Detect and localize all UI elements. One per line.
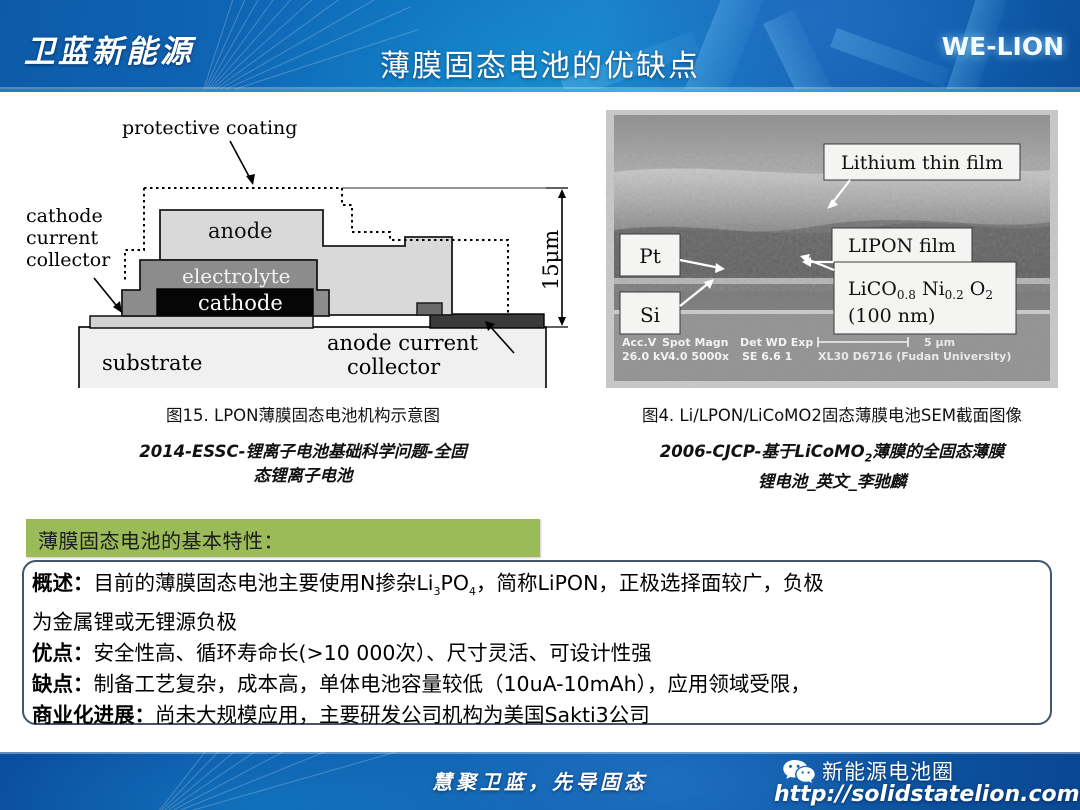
svg-text:(100 nm): (100 nm) <box>848 305 935 327</box>
figure-left-source-line2: 态锂离子电池 <box>254 466 353 485</box>
label-substrate: substrate <box>102 351 202 375</box>
footer-url[interactable]: http://solidstatelion.com <box>774 782 1080 807</box>
svg-text:Acc.V: Acc.V <box>622 336 657 349</box>
figure-right-source-line2: 锂电池_英文_李驰麟 <box>758 472 907 491</box>
section-header-label: 薄膜固态电池的基本特性： <box>38 525 284 554</box>
content-line-0-sep: ： <box>73 571 94 595</box>
label-thickness: 15μm <box>539 230 563 290</box>
figure-right-source-line1a: 2006-CJCP-基于LiCoMO <box>660 442 865 461</box>
content-line-3-label: 缺点 <box>32 672 73 696</box>
figure-left-source-line1: 2014-ESSC-锂离子电池基础科学问题-全固 <box>139 442 467 461</box>
svg-text:LiCO0.8 Ni0.2 O2: LiCO0.8 Ni0.2 O2 <box>848 278 993 302</box>
svg-text:Lithium thin film: Lithium thin film <box>841 152 1003 174</box>
content-line-4: 商业化进展：尚未大规模应用，主要研发公司机构为美国Sakti3公司 <box>32 700 1042 731</box>
content-line-1-text-a: 为金属锂或无锂源负极 <box>32 610 237 634</box>
content-line-4-label: 商业化进展 <box>32 703 135 727</box>
slide-body: 15μm protective coating cathode current … <box>0 92 1080 752</box>
content-line-0: 概述：目前的薄膜固态电池主要使用N掺杂Li3PO4，简称LiPON，正极选择面较… <box>32 568 1042 607</box>
label-cathode: cathode <box>198 291 283 315</box>
page-title: 薄膜固态电池的优缺点 <box>0 41 1080 85</box>
svg-text:Det WD Exp: Det WD Exp <box>740 336 813 349</box>
figure-right-caption-title: 图4. Li/LPON/LiCoMO2固态薄膜电池SEM截面图像 <box>586 404 1078 428</box>
svg-text:4.0 5000x: 4.0 5000x <box>668 350 729 363</box>
figure-right-source-line1b: 薄膜的全固态薄膜 <box>872 442 1004 461</box>
brand-logo-en: WE-LION <box>942 32 1064 61</box>
svg-text:26.0 kV: 26.0 kV <box>622 350 669 363</box>
content-textbox: 概述：目前的薄膜固态电池主要使用N掺杂Li3PO4，简称LiPON，正极选择面较… <box>22 560 1052 725</box>
label-protective-coating: protective coating <box>122 117 297 139</box>
wechat-icon <box>782 758 816 784</box>
svg-text:SE 6.6 1: SE 6.6 1 <box>742 350 792 363</box>
label-cathode-current-collector: cathode <box>26 205 103 227</box>
slide-footer: 慧聚卫蓝，先导固态 新能源电池圈 http://solidstatelion.c… <box>0 752 1080 810</box>
figure-left-caption-title: 图15. LPON薄膜固态电池机构示意图 <box>22 404 584 428</box>
content-line-1: 为金属锂或无锂源负极 <box>32 607 1042 638</box>
content-line-4-sep: ： <box>135 703 156 727</box>
content-line-4-text-a: 尚未大规模应用，主要研发公司机构为美国Sakti3公司 <box>155 703 650 727</box>
svg-text:Spot Magn: Spot Magn <box>662 336 729 349</box>
content-line-0-text-b: PO <box>440 571 469 595</box>
svg-text:Si: Si <box>640 303 660 327</box>
content-line-2-label: 优点 <box>32 641 73 665</box>
content-line-2: 优点：安全性高、循环寿命长(>10 000次）、尺寸灵活、可设计性强 <box>32 638 1042 669</box>
content-line-2-sep: ： <box>73 641 94 665</box>
figure-lipon-schematic: 15μm protective coating cathode current … <box>22 110 584 388</box>
figure-left-caption-source: 2014-ESSC-锂离子电池基础科学问题-全固 态锂离子电池 <box>42 440 564 488</box>
slide-header: 卫蓝新能源 薄膜固态电池的优缺点 WE-LION <box>0 0 1080 92</box>
content-line-0-text-c: ，简称LiPON，正极选择面较广，负极 <box>476 571 824 595</box>
svg-text:XL30 D6716 (Fudan University: XL30 D6716 (Fudan University) <box>818 350 1011 363</box>
presentation-slide: 卫蓝新能源 薄膜固态电池的优缺点 WE-LION <box>0 0 1080 810</box>
content-line-0-label: 概述 <box>32 571 73 595</box>
footer-contact-block: 新能源电池圈 http://solidstatelion.com <box>770 756 1070 808</box>
svg-text:LIPON film: LIPON film <box>848 235 956 257</box>
svg-text:current: current <box>26 227 99 249</box>
label-electrolyte: electrolyte <box>182 264 290 288</box>
svg-text:5 µm: 5 µm <box>924 336 955 349</box>
content-line-3: 缺点：制备工艺复杂，成本高，单体电池容量较低（10uA-10mAh），应用领域受… <box>32 669 1042 700</box>
svg-text:collector: collector <box>347 355 441 379</box>
svg-text:collector: collector <box>26 249 111 271</box>
label-anode: anode <box>208 219 273 243</box>
label-anode-current-collector: anode current <box>327 331 479 355</box>
figure-right-caption-source: 2006-CJCP-基于LiCoMO2薄膜的全固态薄膜 锂电池_英文_李驰麟 <box>606 440 1058 494</box>
section-header-bar: 薄膜固态电池的基本特性： <box>26 519 540 557</box>
content-line-0-sub-b: 4 <box>469 585 476 598</box>
content-line-3-sep: ： <box>73 672 94 696</box>
svg-text:Pt: Pt <box>639 244 661 268</box>
figure-sem-cross-section: Lithium thin film LIPON film Pt <box>606 110 1058 388</box>
content-line-2-text-a: 安全性高、循环寿命长(>10 000次）、尺寸灵活、可设计性强 <box>94 641 652 665</box>
content-line-3-text-a: 制备工艺复杂，成本高，单体电池容量较低（10uA-10mAh），应用领域受限， <box>94 672 811 696</box>
content-line-0-text-a: 目前的薄膜固态电池主要使用N掺杂Li <box>94 571 434 595</box>
